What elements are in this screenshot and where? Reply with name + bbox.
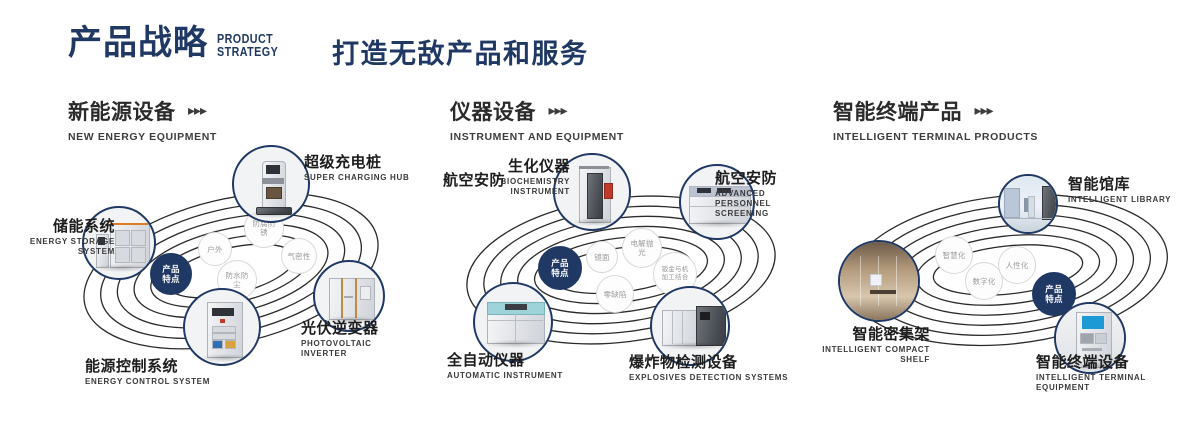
feature-bubble-primary: 产品特点 xyxy=(150,253,192,295)
feature-bubble: 智慧化 xyxy=(935,236,973,274)
node-label-cn: 超级充电桩 xyxy=(304,154,410,171)
page-title-en-line2: STRATEGY xyxy=(217,46,278,59)
chevron-right-icon: ▸▸▸ xyxy=(974,102,992,119)
page-subtitle: 打造无敌产品和服务 xyxy=(332,32,589,71)
automatic-analyzer-icon xyxy=(475,284,551,360)
node-label-cn: 智能密集架 xyxy=(800,326,930,343)
cluster-intelligent-terminal: 智慧化 数字化 人性化 产品特点 xyxy=(810,158,1200,398)
node-label-explosives: 爆炸物检测设备 EXPLOSIVES DETECTION SYSTEMS xyxy=(629,354,788,383)
node-label-cn: 光伏逆变器 xyxy=(301,320,415,337)
node-label-cn: 储能系统 xyxy=(10,218,115,235)
node-label-charging-pile: 超级充电桩 SUPER CHARGING HUB xyxy=(304,154,410,183)
node-label-cn: 智能馆库 xyxy=(1068,176,1171,193)
node-label-en: SUPER CHARGING HUB xyxy=(304,173,410,183)
node-label-en: BIOCHEMISTRY INSTRUMENT xyxy=(465,177,570,197)
node-label-biochemistry: 生化仪器 BIOCHEMISTRY INSTRUMENT xyxy=(465,158,570,197)
compact-shelf-icon xyxy=(840,242,918,320)
section-title-cn: 智能终端产品 xyxy=(833,96,962,126)
node-label-cn: 能源控制系统 xyxy=(85,358,210,375)
cluster-instrument: 产品特点 镜面 电解抛光 零缺陷 钣金与机加工结合 xyxy=(425,158,805,388)
node-label-en: INTELLIGENT TERMINAL EQUIPMENT xyxy=(1036,373,1200,393)
chevron-right-icon: ▸▸▸ xyxy=(188,102,206,119)
node-label-automatic: 全自动仪器 AUTOMATIC INSTRUMENT xyxy=(447,352,563,381)
node-charging-pile[interactable] xyxy=(232,145,310,223)
section-title-cn: 新能源设备 xyxy=(68,96,176,126)
section-title-en: INTELLIGENT TERMINAL PRODUCTS xyxy=(833,131,1038,143)
feature-bubble: 户外 xyxy=(198,232,232,266)
node-label-energy-storage: 储能系统 ENERGY STORAGE SYSTEM xyxy=(10,218,115,257)
node-label-en: ADVANCED PERSONNEL SCREENING xyxy=(715,189,815,219)
node-label-screening: 航空安防 ADVANCED PERSONNEL SCREENING xyxy=(715,170,815,219)
cluster-new-energy: 产品特点 户外 防腐防锈 防水防尘 气密性 xyxy=(55,158,415,388)
section-title-en: INSTRUMENT AND EQUIPMENT xyxy=(450,131,624,143)
chevron-right-icon: ▸▸▸ xyxy=(548,102,566,119)
library-room-icon xyxy=(1000,176,1056,232)
page-title-en: PRODUCT STRATEGY xyxy=(217,33,278,58)
node-label-library: 智能馆库 INTELLIGENT LIBRARY xyxy=(1068,176,1171,205)
product-strategy-page: 产品战略 PRODUCT STRATEGY 打造无敌产品和服务 新能源设备 ▸▸… xyxy=(0,0,1200,422)
page-title-en-line1: PRODUCT xyxy=(217,33,278,46)
section-title-cn: 仪器设备 xyxy=(450,96,536,126)
node-label-cn: 全自动仪器 xyxy=(447,352,563,369)
node-label-cn: 生化仪器 xyxy=(465,158,570,175)
feature-bubble: 零缺陷 xyxy=(596,275,634,313)
feature-bubble-primary-text: 产品特点 xyxy=(1045,284,1063,304)
node-label-en: PHOTOVOLTAIC INVERTER xyxy=(301,339,415,359)
node-label-en: EXPLOSIVES DETECTION SYSTEMS xyxy=(629,373,788,383)
node-label-compact-shelf: 智能密集架 INTELLIGENT COMPACT SHELF xyxy=(800,326,930,365)
node-label-en: INTELLIGENT COMPACT SHELF xyxy=(800,345,930,365)
node-label-terminal-equipment: 智能终端设备 INTELLIGENT TERMINAL EQUIPMENT xyxy=(1036,354,1200,393)
page-title-cn: 产品战略 xyxy=(68,26,208,60)
node-automatic-instrument[interactable] xyxy=(473,282,553,362)
node-intelligent-library[interactable] xyxy=(998,174,1058,234)
node-label-inverter: 光伏逆变器 PHOTOVOLTAIC INVERTER xyxy=(301,320,415,359)
node-label-cn: 爆炸物检测设备 xyxy=(629,354,788,371)
node-energy-control[interactable] xyxy=(183,288,261,366)
feature-bubble: 人性化 xyxy=(998,246,1036,284)
node-compact-shelf[interactable] xyxy=(838,240,920,322)
section-title-new-energy: 新能源设备 ▸▸▸ NEW ENERGY EQUIPMENT xyxy=(68,96,217,143)
feature-bubble-primary-text: 产品特点 xyxy=(162,264,180,284)
node-label-en: ENERGY CONTROL SYSTEM xyxy=(85,377,210,387)
page-title: 产品战略 PRODUCT STRATEGY xyxy=(68,26,288,60)
control-cabinet-icon xyxy=(185,290,259,364)
feature-bubble: 镜面 xyxy=(586,241,618,273)
node-label-en: INTELLIGENT LIBRARY xyxy=(1068,195,1171,205)
feature-bubble-primary-text: 产品特点 xyxy=(551,258,569,278)
node-label-en: ENERGY STORAGE SYSTEM xyxy=(10,237,115,257)
node-label-cn: 智能终端设备 xyxy=(1036,354,1200,371)
feature-bubble: 气密性 xyxy=(281,238,317,274)
section-title-en: NEW ENERGY EQUIPMENT xyxy=(68,131,217,143)
section-title-instrument: 仪器设备 ▸▸▸ INSTRUMENT AND EQUIPMENT xyxy=(450,96,624,143)
charging-pile-icon xyxy=(234,147,308,221)
explosives-detector-icon xyxy=(652,288,728,364)
node-label-cn: 航空安防 xyxy=(715,170,815,187)
node-label-en: AUTOMATIC INSTRUMENT xyxy=(447,371,563,381)
section-title-intelligent-terminal: 智能终端产品 ▸▸▸ INTELLIGENT TERMINAL PRODUCTS xyxy=(833,96,1038,143)
node-label-energy-control: 能源控制系统 ENERGY CONTROL SYSTEM xyxy=(85,358,210,387)
